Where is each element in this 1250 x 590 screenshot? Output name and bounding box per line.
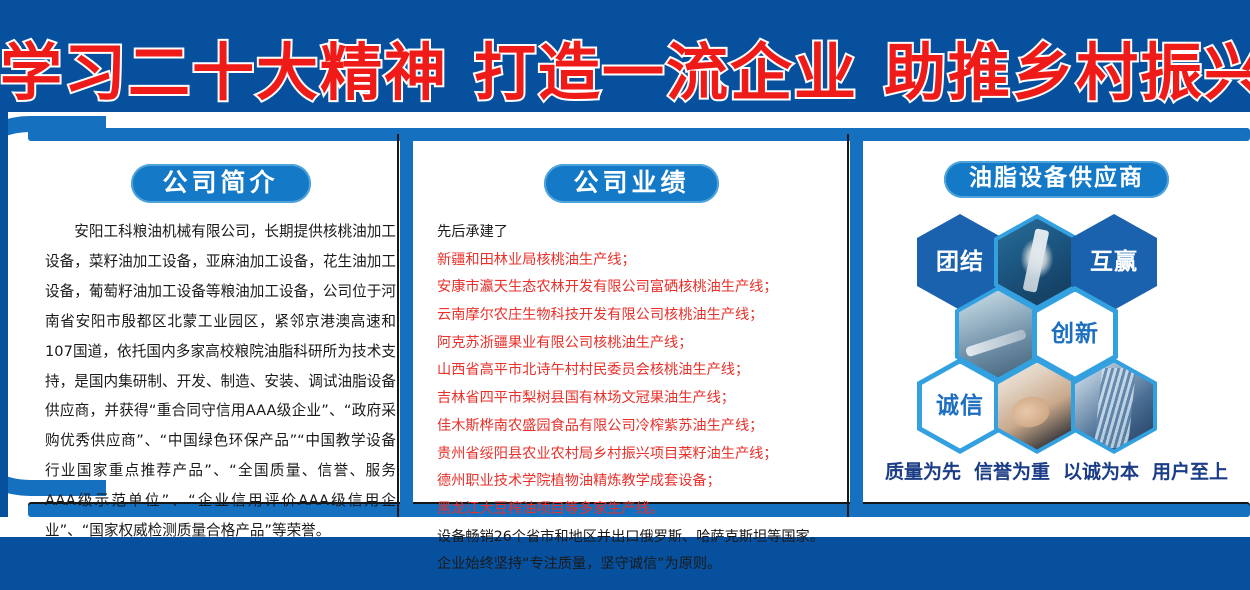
slogan-part-2: 信誉为重	[974, 461, 1050, 483]
hex-label: 团结	[936, 251, 984, 274]
list-item: 黑龙江大豆榨油项目等多家生产线。	[437, 496, 850, 524]
building-photo	[1075, 363, 1153, 450]
divider-right	[850, 128, 863, 517]
slogan-part-4: 用户至上	[1152, 461, 1228, 483]
list-item: 阿克苏浙疆果业有限公司核桃油生产线；	[437, 330, 850, 358]
hex-label: 诚信	[936, 395, 984, 418]
badge-supplier: 油脂设备供应商	[944, 161, 1169, 198]
performance-tail: 企业始终坚持“专注质量，坚守诚信”为原则。	[437, 551, 850, 579]
performance-tail: 设备畅销26个省市和地区并出口俄罗斯、哈萨克斯坦等国家。	[437, 524, 850, 552]
hexagon-cluster: 团结 互赢 创新 诚信	[863, 208, 1250, 458]
list-item: 佳木斯桦南农盛园食品有限公司冷榨紫苏油生产线；	[437, 413, 850, 441]
slogan-part-1: 质量为先	[885, 461, 961, 483]
badge-company-intro: 公司简介	[131, 164, 311, 203]
poster-root: 学习二十大精神打造一流企业助推乡村振兴 公司简介 安阳工科粮油机械有限公司，长期…	[0, 0, 1250, 590]
supplier-slogan: 质量为先信誉为重以诚为本用户至上	[863, 457, 1250, 484]
list-item: 德州职业技术学院植物油精炼教学成套设备；	[437, 468, 850, 496]
list-item: 安康市瀛天生态农林开发有限公司富硒核桃油生产线；	[437, 274, 850, 302]
page-title-part3: 助推乡村振兴	[884, 36, 1250, 109]
page-title-part2: 打造一流企业	[474, 36, 858, 109]
page-title-part1: 学习二十大精神	[0, 36, 448, 109]
list-item: 新疆和田林业局核桃油生产线；	[437, 247, 850, 275]
header-banner: 学习二十大精神打造一流企业助推乡村振兴	[0, 0, 1250, 112]
slogan-part-3: 以诚为本	[1063, 461, 1139, 483]
hex-label: 互赢	[1090, 251, 1138, 274]
list-item: 云南摩尔农庄生物科技开发有限公司核桃油生产线；	[437, 302, 850, 330]
list-item: 贵州省绥阳县农业农村局乡村振兴项目菜籽油生产线；	[437, 441, 850, 469]
company-intro-paragraph: 安阳工科粮油机械有限公司，长期提供核桃油加工设备，菜籽油加工设备，亚麻油加工设备…	[45, 217, 396, 546]
divider-left	[400, 128, 413, 517]
hex-label: 创新	[1051, 323, 1099, 346]
performance-lead: 先后承建了	[437, 219, 850, 247]
badge-company-performance: 公司业绩	[544, 164, 719, 203]
performance-list: 先后承建了 新疆和田林业局核桃油生产线； 安康市瀛天生态农林开发有限公司富硒核桃…	[437, 219, 850, 579]
handshake-photo	[998, 363, 1076, 450]
panel-supplier: 油脂设备供应商 团结 互赢 创新 诚信	[863, 141, 1250, 504]
list-item: 山西省高平市北诗午村村民委员会核桃油生产线；	[437, 357, 850, 385]
panel-company-intro: 公司简介 安阳工科粮油机械有限公司，长期提供核桃油加工设备，菜籽油加工设备，亚麻…	[41, 141, 400, 504]
list-item: 吉林省四平市梨树县国有林场文冠果油生产线；	[437, 385, 850, 413]
top-blue-strip	[28, 128, 1250, 141]
panel-company-performance: 公司业绩 先后承建了 新疆和田林业局核桃油生产线； 安康市瀛天生态农林开发有限公…	[413, 141, 850, 504]
page-title: 学习二十大精神打造一流企业助推乡村振兴	[0, 22, 1250, 112]
